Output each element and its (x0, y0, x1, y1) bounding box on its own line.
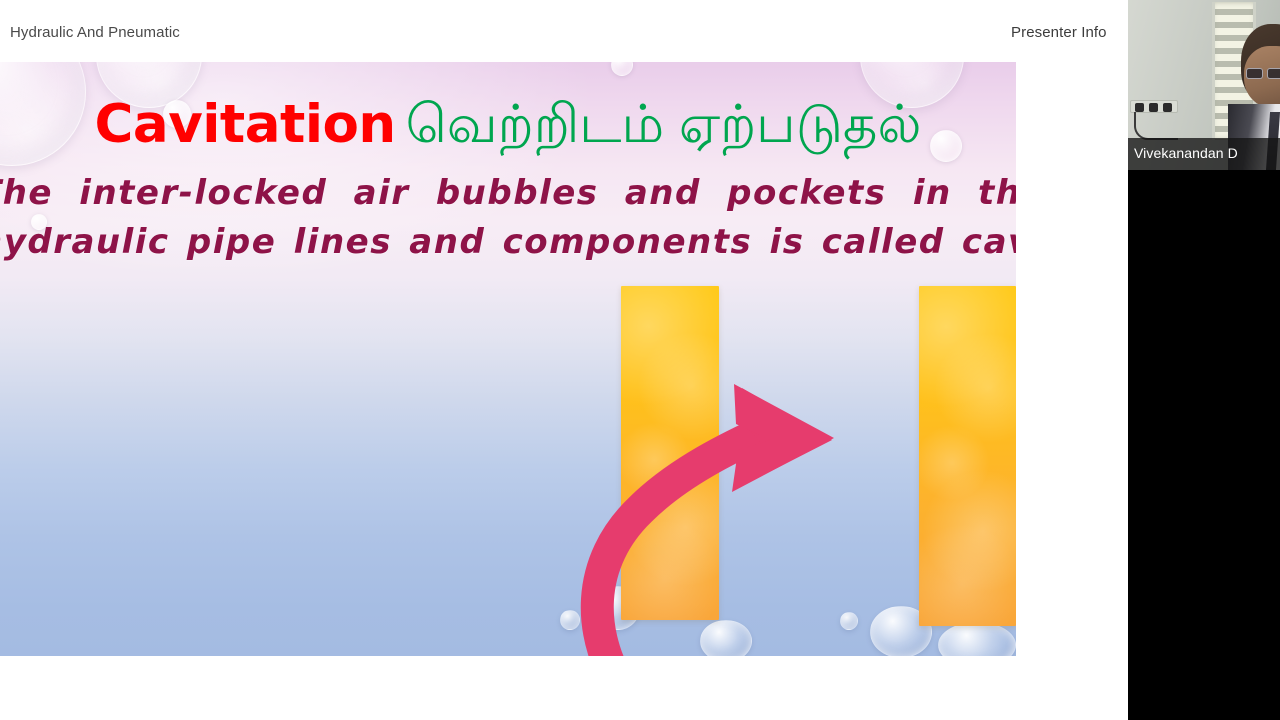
presenter-info-link[interactable]: Presenter Info (1011, 24, 1107, 41)
slide-body-text: The inter-locked air bubbles and pockets… (0, 169, 1016, 267)
bubble-column-right (919, 286, 1016, 626)
curved-flow-arrow-icon (566, 384, 866, 656)
presenter-name-label: Vivekanandan D (1134, 145, 1238, 161)
page-title: Hydraulic And Pneumatic (10, 24, 180, 41)
presentation-viewer-window: Hydraulic And Pneumatic Presenter Info (0, 0, 1280, 720)
player-control-bar: :05 / 00:07 PREV NEXT (0, 656, 1128, 720)
bubble-decoration (611, 62, 633, 76)
slide-body-line-2: hydraulic pipe lines and components is c… (0, 218, 1016, 267)
presentation-viewer: Hydraulic And Pneumatic Presenter Info (0, 0, 1128, 720)
video-background-cord (1134, 112, 1178, 140)
water-droplet (938, 622, 1016, 656)
slide-canvas[interactable]: Cavitationவெற்றிடம் ஏற்படுதல் The inter-… (0, 62, 1016, 656)
slide-title-english: Cavitation (95, 94, 396, 155)
viewer-header: Hydraulic And Pneumatic Presenter Info (0, 0, 1128, 62)
slide-body-line-1: The inter-locked air bubbles and pockets… (0, 169, 1016, 218)
right-video-column: Vivekanandan D (1128, 0, 1280, 720)
presenter-glasses (1246, 68, 1280, 79)
slide-title-tamil: வெற்றிடம் ஏற்படுதல் (396, 95, 922, 154)
presenter-name-bar: Vivekanandan D (1128, 138, 1280, 170)
presenter-video-tile[interactable]: Vivekanandan D (1128, 0, 1280, 170)
slide-headline: Cavitationவெற்றிடம் ஏற்படுதல் (0, 98, 1016, 151)
